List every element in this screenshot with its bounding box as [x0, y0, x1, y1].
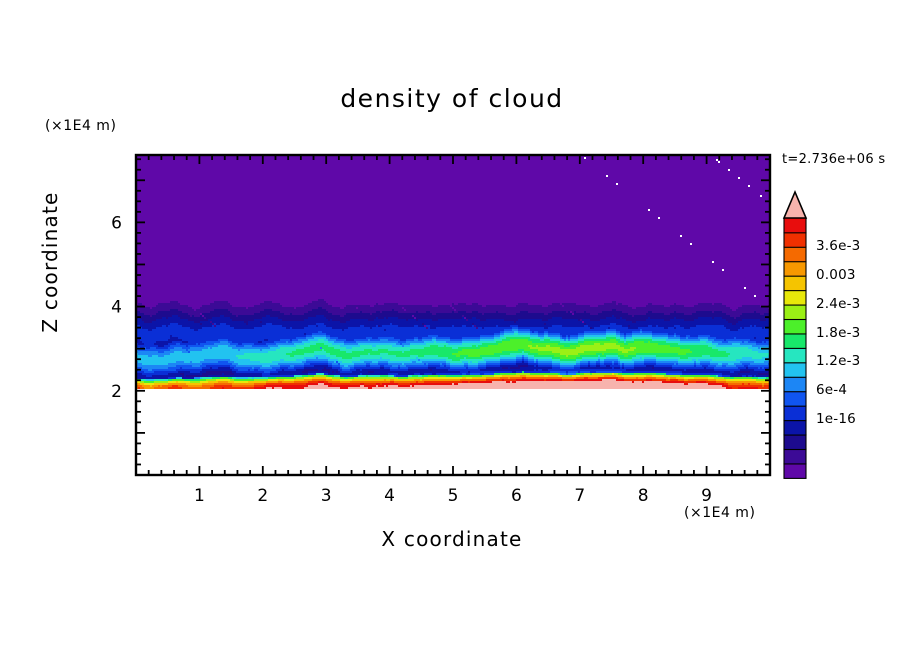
y-tick-label: 6 — [111, 213, 122, 233]
density-field — [136, 155, 770, 389]
contour-plot: 123456789246 — [0, 0, 904, 654]
colorbar-tick-label: 2.4e-3 — [816, 296, 860, 312]
colorbar-over-cap — [784, 192, 806, 218]
x-tick-label: 9 — [701, 486, 712, 506]
x-tick-label: 7 — [574, 486, 585, 506]
x-tick-label: 3 — [321, 486, 332, 506]
x-tick-label: 5 — [448, 486, 459, 506]
x-tick-label: 2 — [257, 486, 268, 506]
colorbar-tick-label: 0.003 — [816, 267, 856, 283]
y-tick-label: 4 — [111, 298, 122, 318]
colorbar-tick-label: 1.2e-3 — [816, 353, 860, 369]
colorbar-tick-label: 3.6e-3 — [816, 238, 860, 254]
x-tick-label: 8 — [638, 486, 649, 506]
colorbar — [784, 192, 806, 478]
colorbar-tick-label: 1e-16 — [816, 411, 856, 427]
colorbar-tick-label: 6e-4 — [816, 382, 847, 398]
colorbar-tick-label: 1.8e-3 — [816, 325, 860, 341]
x-tick-label: 6 — [511, 486, 522, 506]
x-tick-label: 4 — [384, 486, 395, 506]
x-tick-label: 1 — [194, 486, 205, 506]
y-tick-label: 2 — [111, 382, 122, 402]
